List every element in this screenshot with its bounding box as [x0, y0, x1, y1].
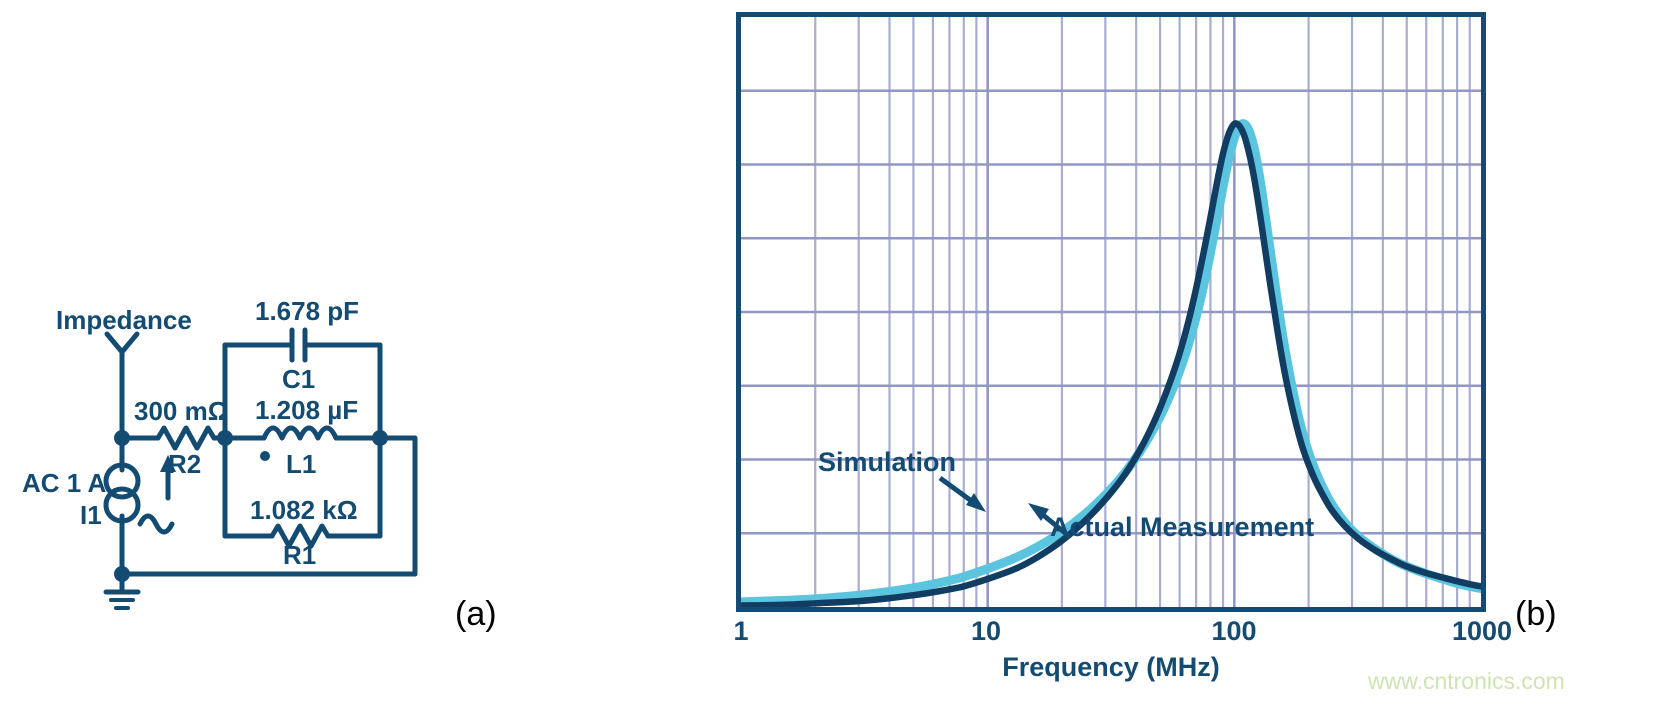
r1-ref-label: R1: [283, 540, 316, 571]
junction-dot: [114, 430, 130, 446]
circuit-panel: Impedance 1.678 pF C1 1.208 µF L1 1.082 …: [0, 0, 670, 706]
l1-value-label: 1.208 µF: [255, 395, 358, 426]
inductor-dot-icon: [260, 451, 270, 461]
panel-a-tag: (a): [455, 595, 497, 634]
circuit-schematic: [0, 0, 670, 706]
xtick-1: 1: [733, 616, 748, 647]
l1-ref-label: L1: [286, 449, 316, 480]
junction-dot: [217, 430, 233, 446]
source-value-label: AC 1 A: [22, 468, 106, 499]
xtick-1000: 1000: [1452, 616, 1512, 647]
annotation-actual-measurement: Actual Measurement: [1050, 512, 1314, 543]
r2-value-label: 300 mΩ: [134, 396, 229, 427]
xtick-10: 10: [971, 616, 1001, 647]
junction-dot: [114, 566, 130, 582]
r1-value-label: 1.082 kΩ: [250, 495, 358, 526]
impedance-port-label: Impedance: [56, 305, 192, 336]
panel-b-tag: (b): [1515, 595, 1557, 634]
r2-ref-label: R2: [168, 449, 201, 480]
port-marker-icon: [107, 334, 137, 352]
c1-value-label: 1.678 pF: [255, 296, 359, 327]
figure-root: Impedance 1.678 pF C1 1.208 µF L1 1.082 …: [0, 0, 1666, 706]
source-ref-label: I1: [80, 500, 102, 531]
c1-ref-label: C1: [282, 364, 315, 395]
xtick-100: 100: [1211, 616, 1256, 647]
watermark-text: www.cntronics.com: [1368, 668, 1565, 695]
annotation-simulation: Simulation: [818, 447, 956, 478]
junction-dot: [372, 430, 388, 446]
chart-panel: 1 10 100 1000 Frequency (MHz) Simulation…: [670, 0, 1666, 706]
